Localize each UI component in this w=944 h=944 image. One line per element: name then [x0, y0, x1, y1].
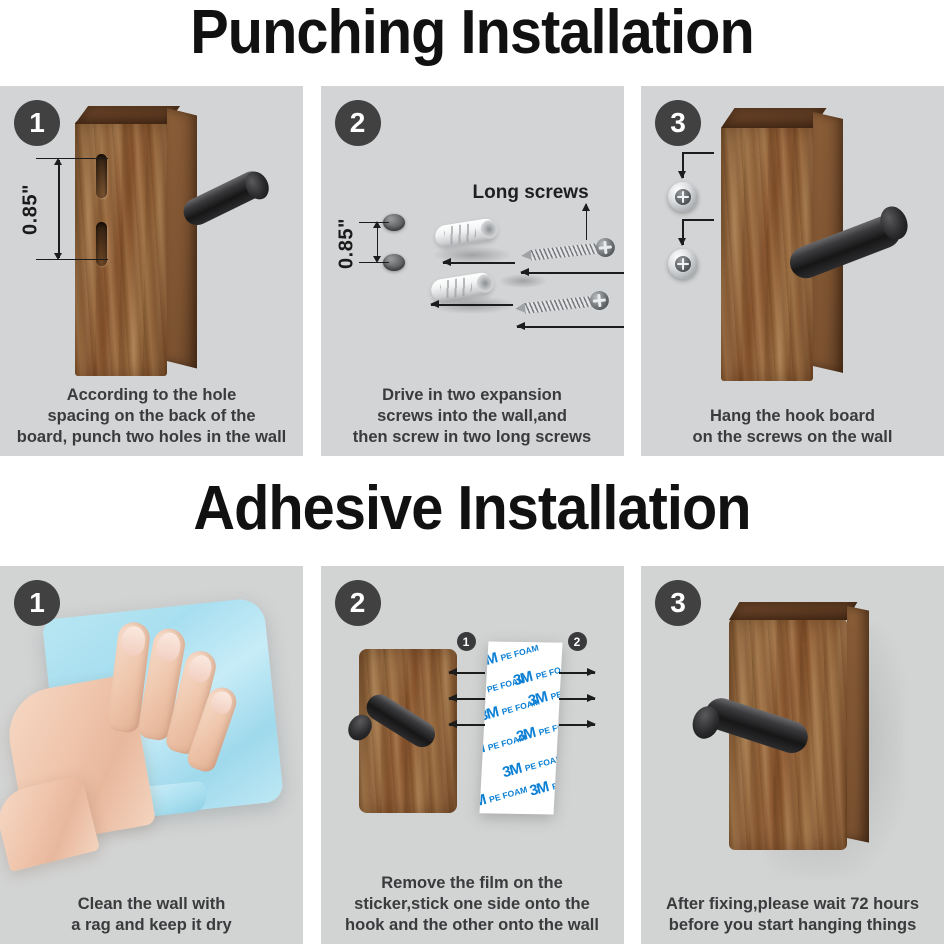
screw-tip [520, 250, 531, 261]
caption-line: then screw in two long screws [325, 427, 620, 448]
pad-logo-text: 3M PE FOAM [479, 779, 528, 813]
fingernail [186, 653, 214, 685]
section-title-adhesive: Adhesive Installation [33, 478, 911, 540]
wood-board-top-face [729, 602, 857, 620]
dimension-label-085: 0.85" [20, 175, 43, 245]
screw-head [594, 237, 615, 258]
pad-logo-text: 3M PE FOAM [479, 727, 527, 761]
step-badge: 3 [655, 100, 701, 146]
wrist [0, 774, 100, 872]
step-caption: Drive in two expansion screws into the w… [321, 385, 624, 448]
marker-badge-2: 2 [568, 632, 587, 651]
caption-line: spacing on the back of the [4, 406, 299, 427]
stick-arrow-right-2 [559, 698, 595, 700]
elbow-horizontal [682, 152, 714, 154]
dimension-arrow-bottom [54, 253, 62, 260]
caption-line: before you start hanging things [645, 915, 940, 936]
wood-board-side-face [847, 606, 869, 843]
caption-line: Hang the hook board [645, 406, 940, 427]
screw-tip [514, 303, 525, 314]
dimension-arrow-bottom [373, 256, 381, 263]
step-badge: 1 [14, 580, 60, 626]
screw-callout-elbow-bottom [682, 219, 714, 245]
dimension-extension-line-top [36, 158, 108, 159]
wood-board-side-face [167, 108, 197, 368]
dimension-extension-line-bottom [36, 259, 108, 260]
stick-arrow-right-3 [559, 724, 595, 726]
wall-anchor-top [433, 217, 498, 248]
step-panel-adhesive-1: 1 Clean the wall with a rag and k [0, 566, 303, 944]
step-panel-punching-2: 2 Long screws 0.85" [321, 86, 624, 456]
marker-badge-1: 1 [457, 632, 476, 651]
caption-line: a rag and keep it dry [4, 915, 299, 936]
step-panel-punching-1: 1 0.85" According to the hole spacing on… [0, 86, 303, 456]
fingernail [208, 689, 235, 717]
dimension-arrow-top [54, 158, 62, 165]
caption-line: Drive in two expansion [325, 385, 620, 406]
step-caption: According to the hole spacing on the bac… [0, 385, 303, 448]
step-caption: After fixing,please wait 72 hours before… [641, 894, 944, 936]
screw-callout-arrow-bottom [682, 219, 684, 245]
caption-line: sticker,stick one side onto the [325, 894, 620, 915]
stick-arrow-right-1 [559, 672, 595, 674]
section-title-punching: Punching Installation [33, 2, 911, 64]
mounted-screw-bottom [668, 249, 698, 279]
screw-insert-arrow-top [521, 272, 624, 274]
mounted-screw-top [668, 182, 698, 212]
step-panel-adhesive-3: 3 After fixing,please wait 72 hours befo… [641, 566, 944, 944]
screw-callout-elbow-top [682, 152, 714, 178]
wood-board-top-face [721, 108, 826, 128]
caption-line: Clean the wall with [4, 894, 299, 915]
screw-insert-arrow-bottom [517, 326, 624, 328]
dimension-label-085: 0.85" [335, 209, 358, 279]
screw-shaft [523, 296, 592, 314]
step-panel-adhesive-2: 2 3M PE FOAM 3M PE FOAM 3M PE FOAM 3M PE… [321, 566, 624, 944]
screw-head-inner [675, 256, 691, 272]
elbow-horizontal [682, 219, 714, 221]
stick-arrow-left-3 [449, 724, 485, 726]
fingernail [120, 625, 146, 656]
dimension-arrow-top [373, 221, 381, 228]
step-badge: 1 [14, 100, 60, 146]
step-badge: 2 [335, 580, 381, 626]
step-panel-punching-3: 3 [641, 86, 944, 456]
screw-callout-arrow-top [682, 152, 684, 178]
caption-line: screws into the wall,and [325, 406, 620, 427]
wood-board-top-face [75, 106, 180, 124]
stick-arrow-left-1 [449, 672, 485, 674]
caption-line: on the screws on the wall [645, 427, 940, 448]
stick-arrow-left-2 [449, 698, 485, 700]
step-caption: Clean the wall with a rag and keep it dr… [0, 894, 303, 936]
step-caption: Remove the film on the sticker,stick one… [321, 873, 624, 936]
long-screws-label: Long screws [473, 182, 589, 204]
adhesive-pad-3m: 3M PE FOAM 3M PE FOAM 3M PE FOAM 3M PE F… [479, 641, 562, 814]
step-badge: 2 [335, 100, 381, 146]
screw-head-inner [675, 189, 691, 205]
caption-line: After fixing,please wait 72 hours [645, 894, 940, 915]
anchor-ribs [438, 277, 473, 300]
caption-line: According to the hole [4, 385, 299, 406]
anchor-insert-arrow-bottom [431, 304, 513, 306]
anchor-insert-arrow-top [443, 262, 515, 264]
long-screw-bottom [523, 289, 617, 299]
step-caption: Hang the hook board on the screws on the… [641, 406, 944, 448]
step-badge: 3 [655, 580, 701, 626]
instruction-sheet: Punching Installation 1 0.85" Accordin [0, 0, 944, 944]
fingernail [155, 631, 183, 664]
anchor-ribs [442, 223, 477, 246]
adhesive-steps-row: 1 Clean the wall with a rag and k [0, 566, 944, 944]
long-screw-top [529, 236, 623, 246]
punching-steps-row: 1 0.85" According to the hole spacing on… [0, 86, 944, 456]
screw-callout-line [586, 204, 588, 240]
dimension-measure-line [58, 160, 60, 258]
caption-line: Remove the film on the [325, 873, 620, 894]
caption-line: hook and the other onto the wall [325, 915, 620, 936]
caption-line: board, punch two holes in the wall [4, 427, 299, 448]
keyhole-slot-top [96, 154, 107, 198]
screw-shaft [529, 243, 598, 261]
screw-head [588, 290, 609, 311]
